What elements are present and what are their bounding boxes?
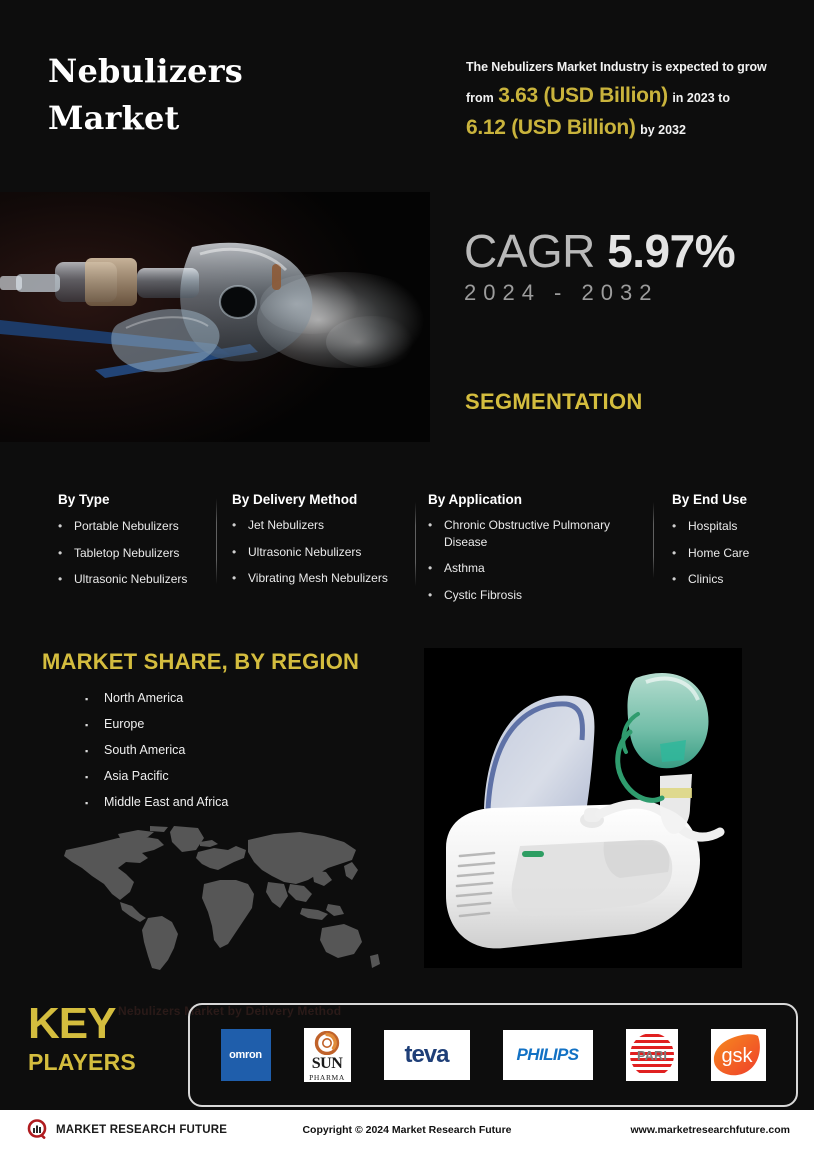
- list-item: ▪North America: [85, 691, 228, 706]
- bullet-icon: •: [58, 518, 74, 535]
- segmentation-column-by-delivery-method: By Delivery Method •Jet Nebulizers •Ultr…: [232, 492, 412, 597]
- bullet-icon: •: [672, 571, 688, 588]
- market-share-heading: MARKET SHARE, BY REGION: [42, 649, 359, 675]
- bullet-icon: •: [428, 587, 444, 604]
- region-label: Asia Pacific: [104, 769, 169, 784]
- key-players-line-1: KEY: [28, 1003, 178, 1045]
- footer-copyright: Copyright © 2024 Market Research Future: [302, 1124, 511, 1136]
- region-label: South America: [104, 743, 185, 758]
- value-2023: 3.63 (USD Billion): [498, 84, 668, 107]
- list-item: •Home Care: [672, 545, 807, 562]
- gsk-logo-text: gsk: [721, 1045, 753, 1067]
- teva-logo-text: teva: [404, 1041, 448, 1069]
- omron-logo: omron: [221, 1029, 271, 1081]
- list-item-label: Portable Nebulizers: [74, 518, 179, 535]
- square-bullet-icon: ▪: [85, 769, 104, 784]
- growth-intro-text: The Nebulizers Market Industry is expect…: [466, 58, 796, 77]
- growth-statement: The Nebulizers Market Industry is expect…: [466, 58, 796, 142]
- key-players-label: KEY PLAYERS: [28, 1003, 178, 1080]
- pari-logo: PARI: [626, 1029, 678, 1081]
- cagr-value: 5.97%: [607, 225, 735, 277]
- list-item: ▪Asia Pacific: [85, 769, 228, 784]
- bullet-icon: •: [428, 560, 444, 577]
- list-item: •Tabletop Nebulizers: [58, 545, 208, 562]
- philips-logo: PHILIPS: [503, 1030, 593, 1080]
- list-item-label: Cystic Fibrosis: [444, 587, 522, 604]
- region-label: Europe: [104, 717, 144, 732]
- bullet-icon: •: [232, 517, 248, 534]
- cagr-label: CAGR: [464, 225, 595, 277]
- square-bullet-icon: ▪: [85, 691, 104, 706]
- nebulizer-product-image: [424, 648, 742, 968]
- pari-logo-text: PARI: [636, 1048, 666, 1063]
- list-item: •Asthma: [428, 560, 648, 577]
- omron-logo-text: omron: [229, 1049, 262, 1061]
- bullet-icon: •: [232, 570, 248, 587]
- bullet-icon: •: [232, 544, 248, 561]
- square-bullet-icon: ▪: [85, 717, 104, 732]
- list-item: •Clinics: [672, 571, 807, 588]
- list-item: •Hospitals: [672, 518, 807, 535]
- list-item: •Vibrating Mesh Nebulizers: [232, 570, 412, 587]
- list-item-label: Hospitals: [688, 518, 737, 535]
- list-item: ▪Europe: [85, 717, 228, 732]
- segmentation-column-title: By Delivery Method: [232, 492, 412, 507]
- segmentation-divider-3: [653, 502, 654, 578]
- list-item: •Chronic Obstructive Pulmonary Disease: [428, 517, 648, 550]
- footer-brand-text: MARKET RESEARCH FUTURE: [56, 1124, 227, 1136]
- mrfr-magnifier-icon: [27, 1119, 49, 1141]
- list-item-label: Clinics: [688, 571, 723, 588]
- footer-website-url[interactable]: www.marketresearchfuture.com: [630, 1124, 790, 1136]
- value-2032: 6.12 (USD Billion): [466, 116, 636, 139]
- cagr-year-range: 2024 - 2032: [464, 280, 735, 306]
- square-bullet-icon: ▪: [85, 743, 104, 758]
- list-item: •Jet Nebulizers: [232, 517, 412, 534]
- teva-logo: teva: [384, 1030, 470, 1080]
- bullet-icon: •: [58, 545, 74, 562]
- sun-pharma-swirl-icon: [314, 1031, 340, 1055]
- segmentation-column-title: By End Use: [672, 492, 807, 507]
- market-share-region-list: ▪North America ▪Europe ▪South America ▪A…: [85, 691, 228, 821]
- pharma-logo-text: PHARMA: [309, 1073, 345, 1082]
- segmentation-column-by-application: By Application •Chronic Obstructive Pulm…: [428, 492, 648, 613]
- list-item: ▪Middle East and Africa: [85, 795, 228, 810]
- cagr-line: CAGR 5.97%: [464, 228, 735, 275]
- list-item-label: Ultrasonic Nebulizers: [74, 571, 187, 588]
- list-item-label: Vibrating Mesh Nebulizers: [248, 570, 388, 587]
- gsk-teardrop-icon: gsk: [712, 1031, 764, 1079]
- region-label: Middle East and Africa: [104, 795, 228, 810]
- bullet-icon: •: [672, 545, 688, 562]
- key-players-line-2: PLAYERS: [28, 1045, 178, 1080]
- segmentation-column-title: By Application: [428, 492, 648, 507]
- world-map-graphic: [22, 822, 412, 980]
- by-2032-label: by 2032: [640, 123, 686, 137]
- list-item-label: Home Care: [688, 545, 749, 562]
- growth-2023-line: from 3.63 (USD Billion) in 2023 to: [466, 82, 796, 110]
- square-bullet-icon: ▪: [85, 795, 104, 810]
- list-item: •Cystic Fibrosis: [428, 587, 648, 604]
- list-item-label: Tabletop Nebulizers: [74, 545, 179, 562]
- segmentation-column-by-type: By Type •Portable Nebulizers •Tabletop N…: [58, 492, 208, 598]
- page-title: Nebulizers Market: [48, 48, 428, 143]
- list-item: •Ultrasonic Nebulizers: [58, 571, 208, 588]
- in-2023-label: in 2023 to: [672, 91, 730, 105]
- list-item: •Ultrasonic Nebulizers: [232, 544, 412, 561]
- philips-logo-text: PHILIPS: [517, 1045, 579, 1065]
- cagr-block: CAGR 5.97% 2024 - 2032: [464, 228, 735, 306]
- title-line-1: Nebulizers: [48, 48, 428, 95]
- footer-bar: MARKET RESEARCH FUTURE Copyright © 2024 …: [0, 1110, 814, 1150]
- growth-2032-line: 6.12 (USD Billion) by 2032: [466, 114, 796, 142]
- segmentation-heading: SEGMENTATION: [465, 389, 643, 415]
- region-label: North America: [104, 691, 183, 706]
- list-item-label: Chronic Obstructive Pulmonary Disease: [444, 517, 648, 550]
- pari-circle-icon: PARI: [628, 1031, 676, 1079]
- segmentation-section: Nebulizers Market by Delivery Method By …: [0, 492, 814, 642]
- key-players-logo-box: omron SUN PHARMA teva PHILIPS: [188, 1003, 798, 1107]
- gsk-logo: gsk: [711, 1029, 766, 1081]
- segmentation-column-by-end-use: By End Use •Hospitals •Home Care •Clinic…: [672, 492, 807, 598]
- segmentation-column-title: By Type: [58, 492, 208, 507]
- hero-nebulizer-mask-image: [0, 192, 430, 442]
- list-item-label: Asthma: [444, 560, 485, 577]
- list-item: •Portable Nebulizers: [58, 518, 208, 535]
- from-label: from: [466, 91, 494, 105]
- sun-logo-text: SUN: [312, 1056, 343, 1071]
- title-line-2: Market: [48, 95, 428, 142]
- list-item: ▪South America: [85, 743, 228, 758]
- footer-brand: MARKET RESEARCH FUTURE: [27, 1119, 227, 1141]
- sun-pharma-logo: SUN PHARMA: [304, 1028, 351, 1082]
- infographic-page: Nebulizers Market The Nebulizers Market …: [0, 0, 814, 1150]
- list-item-label: Jet Nebulizers: [248, 517, 324, 534]
- bullet-icon: •: [58, 571, 74, 588]
- bullet-icon: •: [672, 518, 688, 535]
- list-item-label: Ultrasonic Nebulizers: [248, 544, 361, 561]
- segmentation-divider-1: [216, 498, 217, 584]
- segmentation-divider-2: [415, 502, 416, 586]
- bullet-icon: •: [428, 517, 444, 550]
